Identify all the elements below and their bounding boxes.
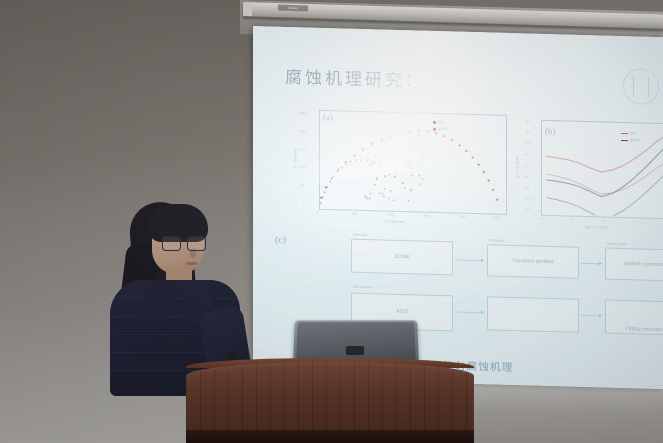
panel-a-ytick-1: 500 — [299, 183, 304, 187]
panel-c-arrow-2 — [455, 311, 483, 313]
panel-c-caption-1: Film layer — [489, 238, 504, 242]
laptop-lid-inner — [296, 322, 416, 362]
panel-a-ytick-0: 0 — [303, 201, 305, 205]
panel-a-xtick-1: 1000 — [351, 212, 358, 216]
panel-b-xtick-4: -6 — [603, 218, 606, 222]
panel-a-ytick-3: 1500 — [299, 147, 306, 151]
panel-c-box-2: Uniform corrosion — [605, 248, 663, 282]
panel-c-arrow-0 — [455, 259, 483, 261]
panel-b-ytick-2: 0.0 — [526, 141, 530, 145]
panel-c-caption-0: Substrate — [353, 233, 368, 237]
roller-end-cap — [243, 3, 252, 16]
panel-b-ytick-6: -0.8 — [524, 185, 529, 189]
panel-a-ytick-2: 1000 — [299, 165, 306, 169]
panel-a-xtick-4: 4000 — [459, 215, 466, 219]
presentation-photo-scene: Screen 腐蚀机理研究： (a) 2500 2000 1500 1000 5… — [0, 0, 663, 443]
panel-b-ytick-1: 0.2 — [526, 130, 530, 134]
university-seal-logo — [623, 68, 659, 105]
glasses-bridge — [179, 241, 187, 242]
panel-c-letter: (c) — [275, 235, 286, 246]
panel-b-ytick-7: -1.0 — [524, 196, 529, 200]
panel-a-xtick-5: 5000 — [493, 215, 500, 219]
panel-c-arrow-1 — [581, 263, 601, 265]
panel-a-xlabel: Z' / ohm cm2 — [385, 220, 405, 225]
panel-c-box-5: Pitting corrosion — [605, 300, 663, 336]
podium-shadow — [186, 430, 474, 443]
slide-title: 腐蚀机理研究： — [285, 63, 425, 92]
panel-b-xtick-2: -8 — [571, 218, 574, 222]
panel-a-xtick-0: 0 — [317, 211, 319, 215]
panel-c-box-1: Corrosion product — [487, 244, 579, 278]
panel-b-xlabel: log ( i / A cm-2 ) — [585, 225, 609, 230]
panel-b-ytick-4: -0.4 — [524, 163, 529, 167]
panel-b-plot — [541, 120, 663, 218]
panel-c-box-4 — [487, 296, 579, 332]
panel-a-plot — [319, 110, 505, 213]
panel-c-box-0: 2CrMo — [351, 239, 453, 276]
chart-panel-a: (a) 2500 2000 1500 1000 500 0 0 1000 200… — [305, 107, 515, 231]
panel-a-ylabel: -Z'' / ohm cm2 — [294, 148, 298, 169]
panel-b-ylabel: E / V vs. SCE — [515, 157, 519, 178]
panel-b-ytick-0: 0.4 — [526, 119, 530, 123]
jacket-seam — [110, 298, 240, 299]
panel-a-ytick-5: 2500 — [299, 111, 306, 115]
chart-panel-b: (b) 0.4 0.2 0.0 -0.2 -0.4 -0.6 -0.8 -1.0… — [523, 117, 663, 237]
panel-a-ytick-4: 2000 — [299, 129, 306, 133]
panel-b-ytick-8: -1.2 — [524, 207, 529, 211]
panel-c-arrow-3 — [581, 315, 601, 317]
panel-b-ytick-3: -0.2 — [524, 152, 529, 156]
panel-b-ytick-5: -0.6 — [524, 174, 529, 178]
glasses-lens-right — [187, 236, 206, 251]
presenter-mouth — [186, 262, 197, 265]
glasses-icon — [162, 236, 206, 249]
laptop-logo-icon — [346, 346, 364, 355]
panel-a-xtick-2: 2000 — [387, 213, 394, 217]
roller-brand-label: Screen — [278, 5, 308, 12]
glasses-lens-left — [162, 236, 181, 251]
panel-c-caption-3: With inhibitor — [353, 285, 373, 290]
panel-a-xtick-3: 3000 — [423, 214, 430, 218]
panel-b-xtick-6: -4 — [635, 219, 638, 223]
panel-b-xtick-0: -10 — [539, 217, 543, 221]
panel-c-caption-2: Surface state — [607, 242, 627, 247]
